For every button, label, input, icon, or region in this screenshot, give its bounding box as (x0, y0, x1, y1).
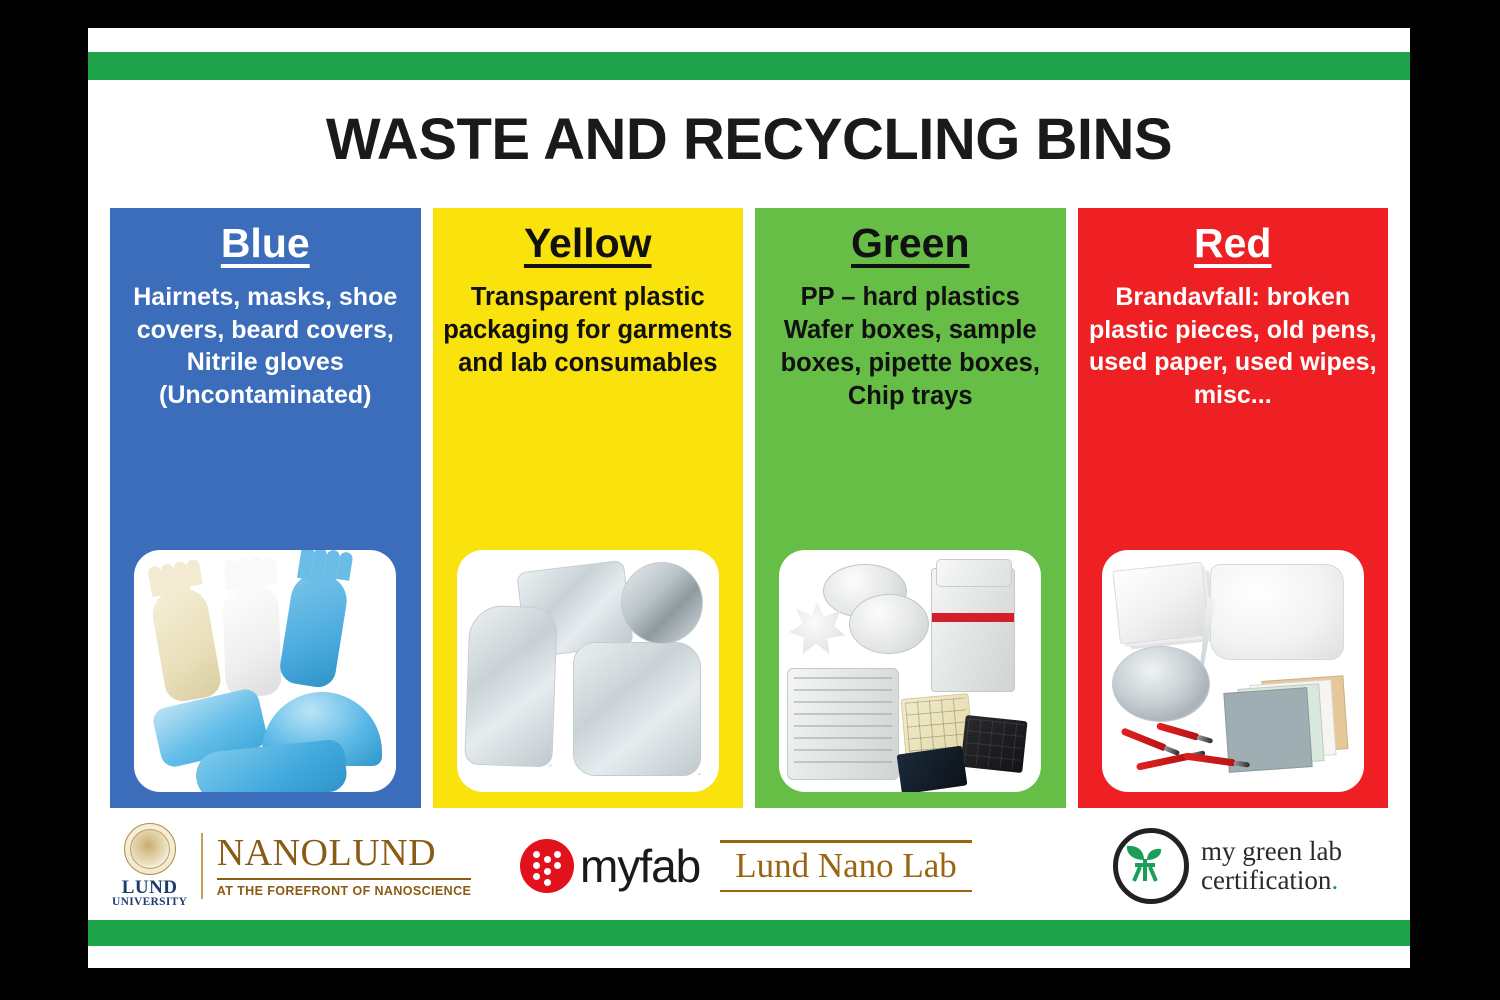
bin-photo-yellow (457, 550, 719, 792)
chip-tray-black (961, 715, 1028, 773)
green-lab-sprout-icon (1113, 828, 1189, 904)
lund-university-seal-icon (124, 823, 176, 875)
latex-glove-cream (149, 584, 224, 704)
bin-columns: Blue Hairnets, masks, shoe covers, beard… (110, 208, 1388, 808)
page-title: WASTE AND RECYCLING BINS (88, 106, 1410, 173)
my-green-lab-wordmark: my green lab certification. (1201, 837, 1342, 895)
lund-nano-lab-wordmark: Lund Nano Lab (720, 843, 972, 890)
bin-column-yellow[interactable]: Yellow Transparent plastic packaging for… (433, 208, 744, 808)
used-wipes-pile (1210, 564, 1344, 660)
logo-my-green-lab: my green lab certification. (1113, 828, 1342, 904)
plastic-bag-crumpled (573, 642, 701, 776)
photo-hard-plastics (779, 550, 1041, 792)
plastic-bag-stack (1112, 561, 1209, 644)
wafer-carrier-slots (794, 677, 892, 771)
bin-heading-blue: Blue (221, 222, 310, 265)
nitrile-glove-blue (278, 570, 351, 689)
bin-description-red: Brandavfall: broken plastic pieces, old … (1078, 281, 1389, 411)
bin-column-green[interactable]: Green PP – hard plastics Wafer boxes, sa… (755, 208, 1066, 808)
latex-glove-white (222, 583, 282, 697)
photo-plastic-packaging (457, 550, 719, 792)
bottom-accent-stripe (88, 920, 1410, 946)
wafer-carrier-box (787, 668, 899, 780)
lnl-rule-bottom (720, 890, 972, 893)
pipette-box-lid (936, 559, 1012, 587)
bin-photo-green (779, 550, 1041, 792)
top-accent-stripe (88, 52, 1410, 80)
bin-column-red[interactable]: Red Brandavfall: broken plastic pieces, … (1078, 208, 1389, 808)
plastic-wrap-oval (1112, 646, 1210, 722)
plastic-film-closeup (621, 562, 703, 644)
logo-divider (201, 833, 203, 899)
myfab-mark-icon (520, 839, 574, 893)
poster: WASTE AND RECYCLING BINS Blue Hairnets, … (88, 28, 1410, 968)
myfab-wordmark: myfab (580, 839, 700, 893)
bin-heading-green: Green (851, 222, 970, 265)
wafer-disc-front (849, 594, 929, 654)
lund-university-wordmark: LUND UNIVERSITY (112, 878, 187, 909)
bin-heading-red: Red (1194, 222, 1271, 265)
used-pen-1 (1120, 727, 1167, 751)
bin-photo-blue (134, 550, 396, 792)
bin-column-blue[interactable]: Blue Hairnets, masks, shoe covers, beard… (110, 208, 421, 808)
chip-tray-open (897, 746, 968, 792)
footer-logos: LUND UNIVERSITY NANOLUND AT THE FOREFRON… (88, 816, 1410, 916)
logo-myfab: myfab (520, 839, 700, 893)
photo-gloves-ppe (134, 550, 396, 792)
pipette-tip-box (931, 568, 1015, 692)
bin-description-green: PP – hard plastics Wafer boxes, sample b… (755, 281, 1066, 414)
bin-description-blue: Hairnets, masks, shoe covers, beard cove… (110, 281, 421, 411)
used-pen-2 (1156, 722, 1200, 741)
nanolund-rule (217, 878, 472, 880)
logo-nanolund: LUND UNIVERSITY NANOLUND AT THE FOREFRON… (112, 823, 471, 909)
bin-description-yellow: Transparent plastic packaging for garmen… (433, 281, 744, 380)
pipette-box-red-band (932, 613, 1014, 622)
nanolund-wordmark: NANOLUND AT THE FOREFRONT OF NANOSCIENCE (217, 834, 472, 898)
bin-photo-red (1102, 550, 1364, 792)
logo-lund-nano-lab: Lund Nano Lab (720, 840, 972, 892)
bin-heading-yellow: Yellow (524, 222, 652, 265)
plastic-bag-bottle (464, 605, 558, 768)
photo-general-waste (1102, 550, 1364, 792)
